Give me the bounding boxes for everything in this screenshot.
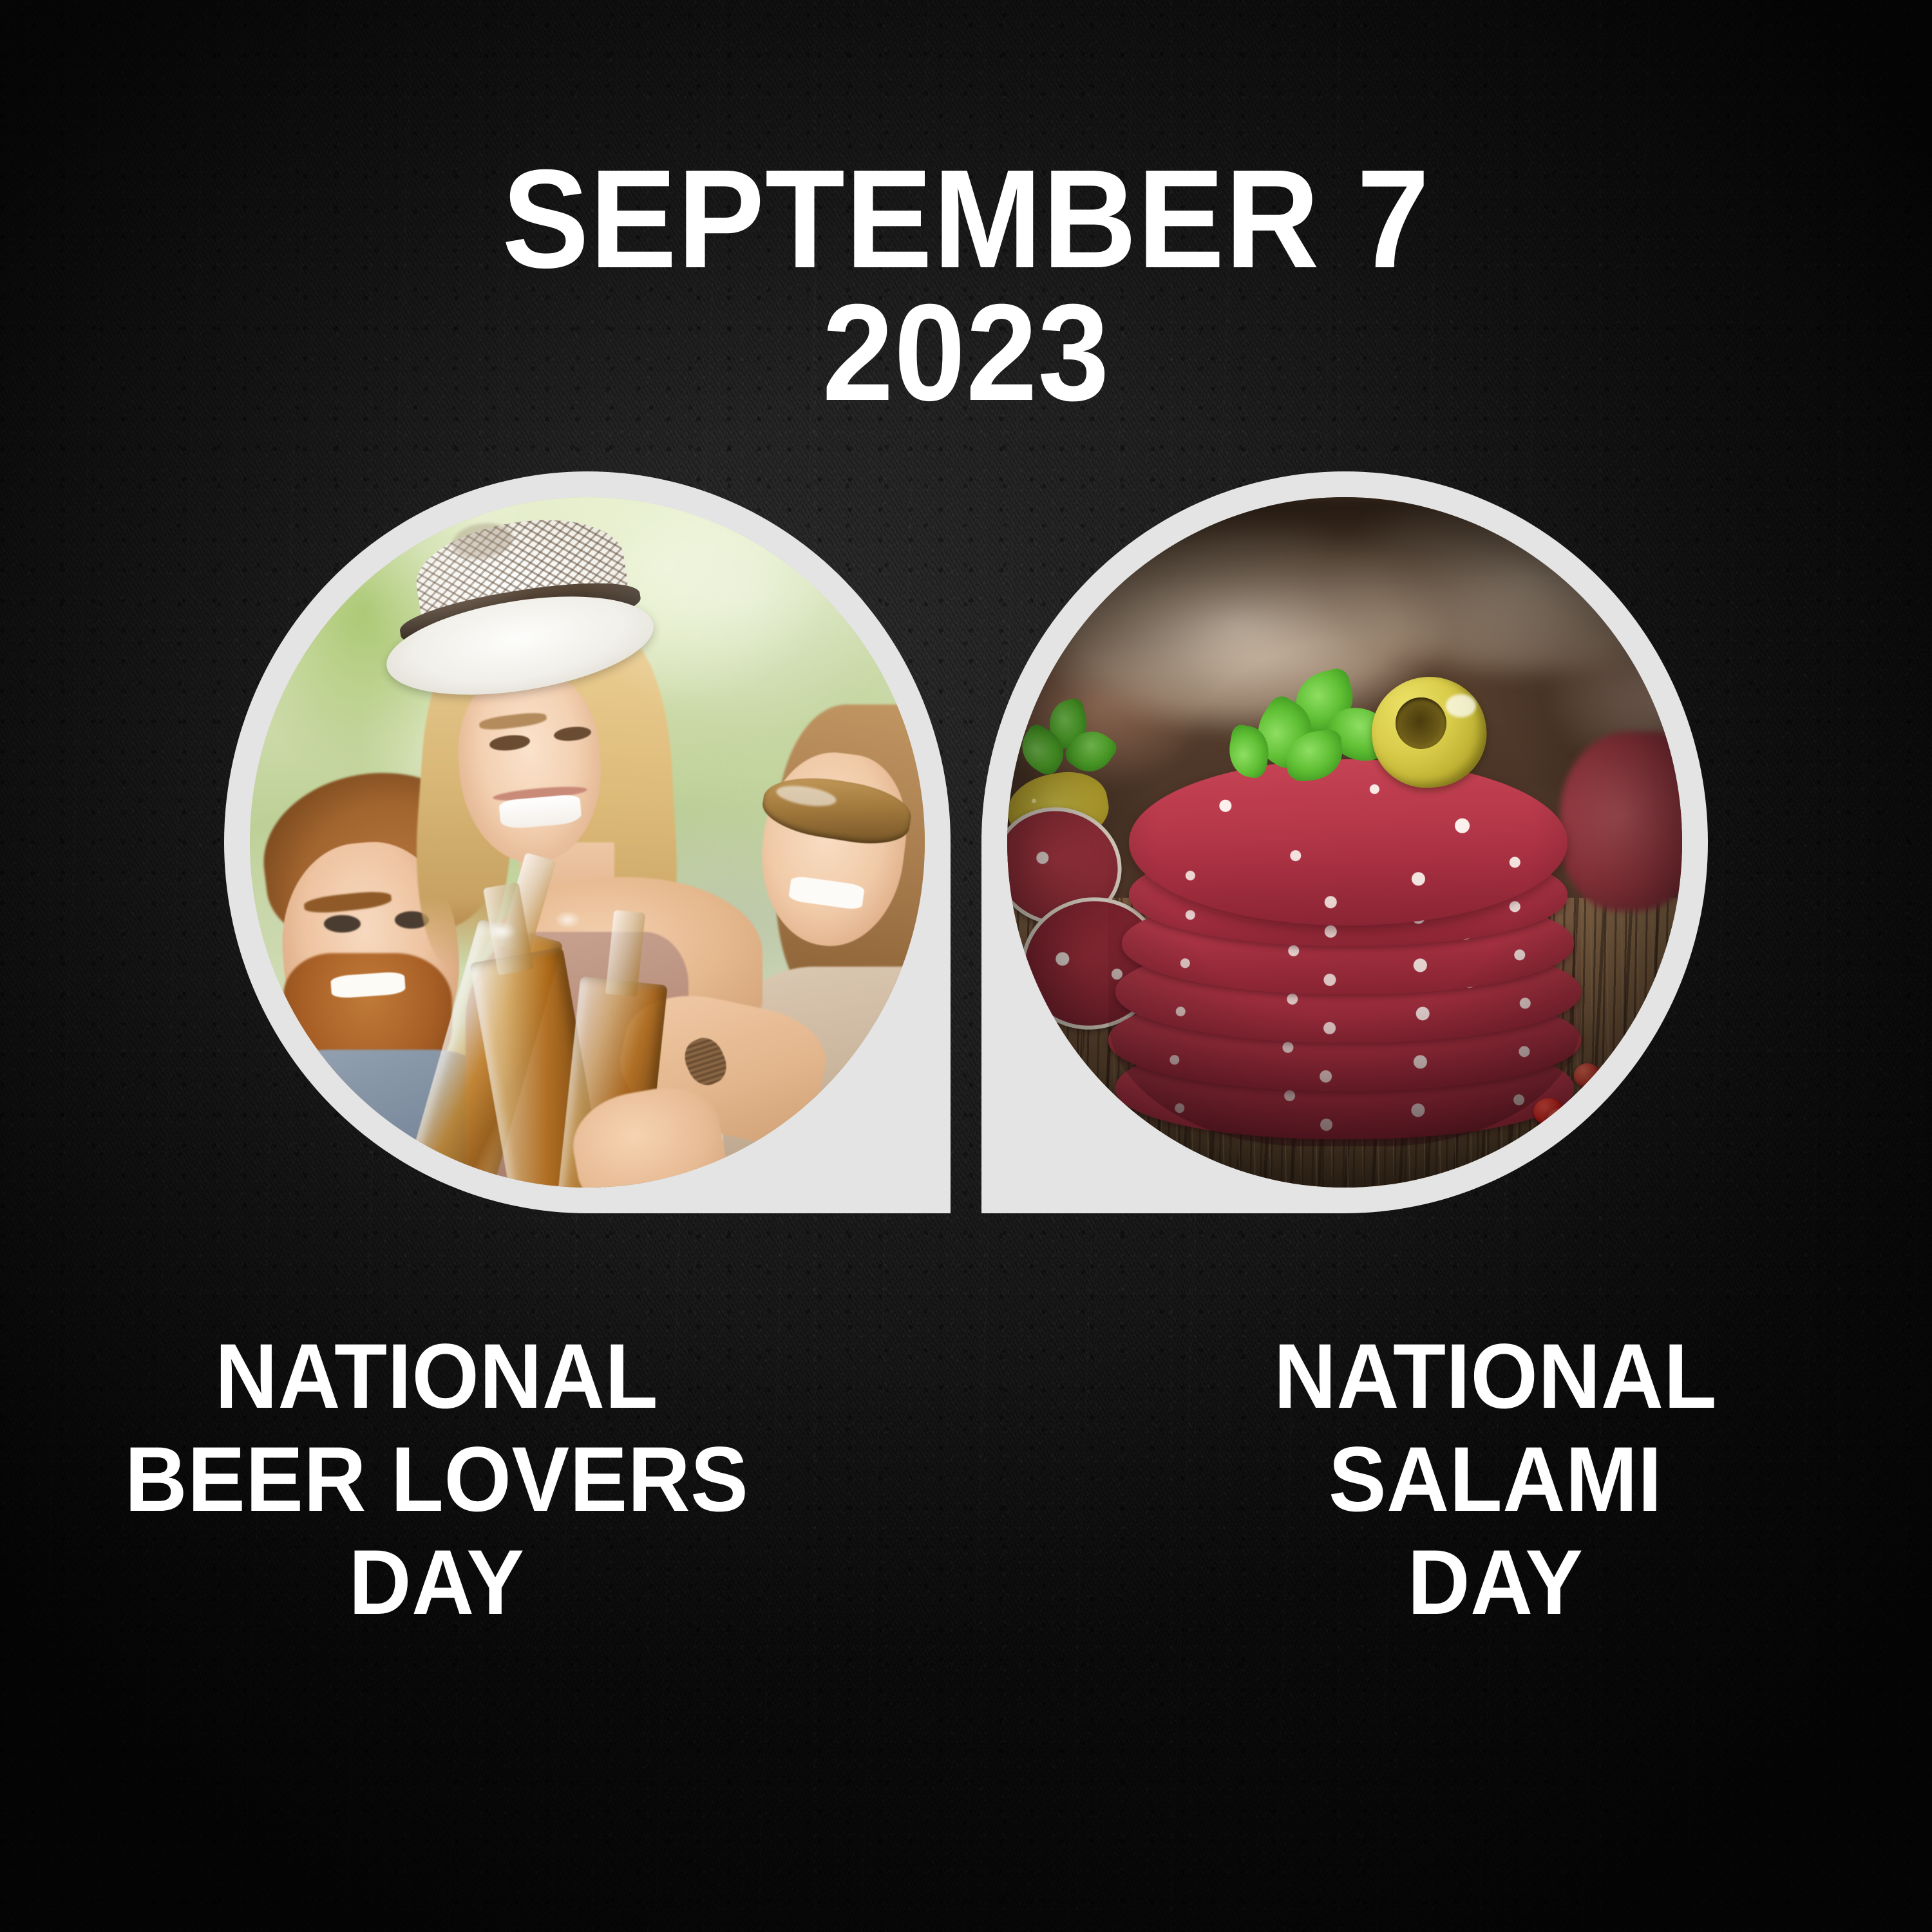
photo-salami-platter (1007, 497, 1682, 1188)
sun-glare (250, 497, 925, 1188)
background-shadow (1007, 497, 1682, 663)
date-year: 2023 (68, 287, 1864, 419)
poster-canvas: SEPTEMBER 7 2023 (0, 0, 1932, 1932)
green-olive-highlight (1446, 694, 1476, 717)
caption-right-line-3: DAY (1085, 1531, 1906, 1634)
caption-left-line-2: BEER LOVERS (26, 1428, 848, 1531)
beer-photo-scene (250, 497, 925, 1188)
date-header: SEPTEMBER 7 2023 (0, 152, 1932, 419)
parsley-sprig-secondary (1021, 705, 1115, 794)
red-peppercorn-3 (1547, 1108, 1570, 1129)
caption-right-line-2: SALAMI (1085, 1428, 1906, 1531)
badge-salami[interactable] (981, 471, 1708, 1213)
caption-left-line-3: DAY (26, 1531, 848, 1634)
caption-left-line-1: NATIONAL (26, 1325, 848, 1428)
salami-photo-scene (1007, 497, 1682, 1188)
photo-beer-friends (250, 497, 925, 1188)
badge-row (224, 471, 1708, 1217)
date-month-day: SEPTEMBER 7 (68, 152, 1864, 287)
background-meat-right (1560, 732, 1682, 911)
badge-beer[interactable] (224, 471, 951, 1213)
caption-right-line-1: NATIONAL (1085, 1325, 1906, 1428)
caption-salami-day: NATIONAL SALAMI DAY (953, 1325, 1932, 1634)
caption-beer-lovers-day: NATIONAL BEER LOVERS DAY (0, 1325, 953, 1634)
red-peppercorn-2 (1574, 1063, 1601, 1088)
caption-row: NATIONAL BEER LOVERS DAY NATIONAL SALAMI… (0, 1325, 1932, 1634)
